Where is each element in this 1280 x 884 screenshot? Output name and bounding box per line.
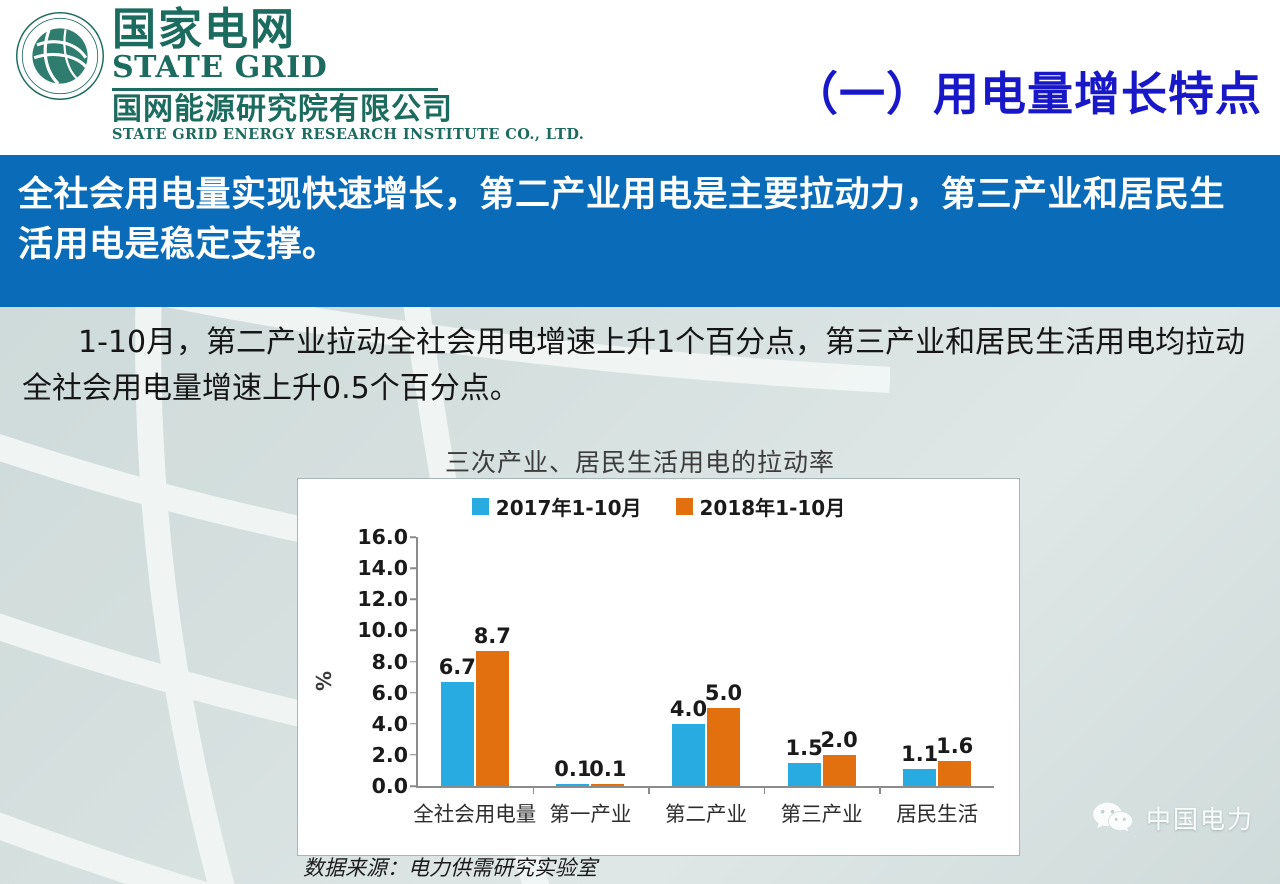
y-tick-mark <box>410 692 416 694</box>
bar-value-label: 8.7 <box>474 624 511 648</box>
logo-subtitle-cn: 国网能源研究院有限公司 <box>112 94 584 126</box>
bar-value-label: 1.6 <box>936 734 973 758</box>
chart-legend: 2017年1-10月2018年1-10月 <box>298 492 1019 521</box>
bar-value-label: 0.1 <box>554 757 591 781</box>
legend-label-1: 2018年1-10月 <box>700 492 846 521</box>
bar-value-label: 0.1 <box>589 757 626 781</box>
bar-group: 4.05.0 <box>648 537 764 786</box>
banner-text: 全社会用电量实现快速增长，第二产业用电是主要拉动力，第三产业和居民生活用电是稳定… <box>18 171 1256 270</box>
y-tick-label: 16.0 <box>357 525 408 549</box>
x-tick-label: 第二产业 <box>665 797 747 827</box>
wechat-icon <box>1091 800 1135 836</box>
chart-container: 2017年1-10月2018年1-10月 % 0.02.04.06.08.010… <box>297 478 1020 856</box>
y-tick-mark <box>410 599 416 601</box>
state-grid-logo: 国家电网 STATE GRID 国网能源研究院有限公司 STATE GRID E… <box>14 8 584 143</box>
x-axis-labels: 全社会用电量第一产业第二产业第三产业居民生活 <box>417 797 995 831</box>
bar-value-label: 1.1 <box>901 742 938 766</box>
x-axis-separator <box>879 786 881 794</box>
chart-title: 三次产业、居民生活用电的拉动率 <box>0 443 1280 479</box>
x-axis-line <box>416 786 994 788</box>
wechat-watermark: 中国电力 <box>1091 800 1254 836</box>
body-paragraph: 1-10月，第二产业拉动全社会用电增速上升1个百分点，第三产业和居民生活用电均拉… <box>22 320 1262 411</box>
legend-swatch-1 <box>676 498 693 515</box>
x-tick-label: 第一产业 <box>549 797 631 827</box>
bar-group: 6.78.7 <box>417 537 533 786</box>
x-tick-label: 第三产业 <box>781 797 863 827</box>
bar[interactable]: 0.1 <box>556 784 589 786</box>
y-tick-label: 10.0 <box>357 618 408 642</box>
legend-item-1[interactable]: 2018年1-10月 <box>676 492 846 521</box>
y-axis-ticks: 0.02.04.06.08.010.012.014.016.0 <box>346 537 408 785</box>
y-tick-label: 8.0 <box>372 650 408 674</box>
y-axis-label: % <box>312 671 336 691</box>
legend-swatch-0 <box>472 498 489 515</box>
y-tick-label: 2.0 <box>372 743 408 767</box>
bar[interactable]: 6.7 <box>441 682 474 786</box>
y-tick-mark <box>410 536 416 538</box>
y-tick-label: 14.0 <box>357 556 408 580</box>
bar[interactable]: 0.1 <box>591 784 624 786</box>
logo-subtitle-en: STATE GRID ENERGY RESEARCH INSTITUTE CO.… <box>112 126 584 143</box>
bar[interactable]: 1.1 <box>903 769 936 786</box>
legend-item-0[interactable]: 2017年1-10月 <box>472 492 642 521</box>
x-axis-separator <box>648 786 650 794</box>
bar-value-label: 4.0 <box>670 697 707 721</box>
y-tick-label: 6.0 <box>372 681 408 705</box>
logo-title-en: STATE GRID <box>112 52 584 84</box>
legend-label-0: 2017年1-10月 <box>496 492 642 521</box>
logo-divider <box>112 88 438 91</box>
slide: 国家电网 STATE GRID 国网能源研究院有限公司 STATE GRID E… <box>0 0 1280 884</box>
bar-value-label: 2.0 <box>820 728 857 752</box>
x-tick-label: 全社会用电量 <box>413 797 536 827</box>
bar-value-label: 6.7 <box>439 655 476 679</box>
y-tick-mark <box>410 723 416 725</box>
bar[interactable]: 2.0 <box>823 755 856 786</box>
bar-value-label: 5.0 <box>705 681 742 705</box>
x-axis-separator <box>764 786 766 794</box>
x-tick-label: 居民生活 <box>896 797 978 827</box>
y-tick-label: 0.0 <box>372 774 408 798</box>
slide-header: 国家电网 STATE GRID 国网能源研究院有限公司 STATE GRID E… <box>0 0 1280 155</box>
y-tick-mark <box>410 754 416 756</box>
y-tick-label: 12.0 <box>357 587 408 611</box>
logo-title-cn: 国家电网 <box>112 8 584 52</box>
bar[interactable]: 4.0 <box>672 724 705 786</box>
y-tick-mark <box>410 567 416 569</box>
x-axis-separator <box>533 786 535 794</box>
bar[interactable]: 1.6 <box>938 761 971 786</box>
bar-value-label: 1.5 <box>785 736 822 760</box>
bar-group: 1.11.6 <box>879 537 995 786</box>
bar[interactable]: 5.0 <box>707 708 740 786</box>
bar[interactable]: 8.7 <box>476 651 509 786</box>
bars-area: 6.78.70.10.14.05.01.52.01.11.6 <box>417 537 995 786</box>
chart-plot-area: % 0.02.04.06.08.010.012.014.016.0 6.78.7… <box>298 531 1019 831</box>
bar-group: 0.10.1 <box>533 537 649 786</box>
data-source-note: 数据来源：电力供需研究实验室 <box>303 852 597 882</box>
section-title: （一）用电量增长特点 <box>792 58 1262 124</box>
key-message-banner: 全社会用电量实现快速增长，第二产业用电是主要拉动力，第三产业和居民生活用电是稳定… <box>0 155 1280 307</box>
y-tick-mark <box>410 661 416 663</box>
y-tick-mark <box>410 630 416 632</box>
y-tick-label: 4.0 <box>372 712 408 736</box>
y-tick-mark <box>410 785 416 787</box>
bar-group: 1.52.0 <box>764 537 880 786</box>
wechat-label: 中国电力 <box>1146 800 1254 836</box>
state-grid-globe-emblem-icon <box>14 10 106 102</box>
bar[interactable]: 1.5 <box>788 763 821 786</box>
